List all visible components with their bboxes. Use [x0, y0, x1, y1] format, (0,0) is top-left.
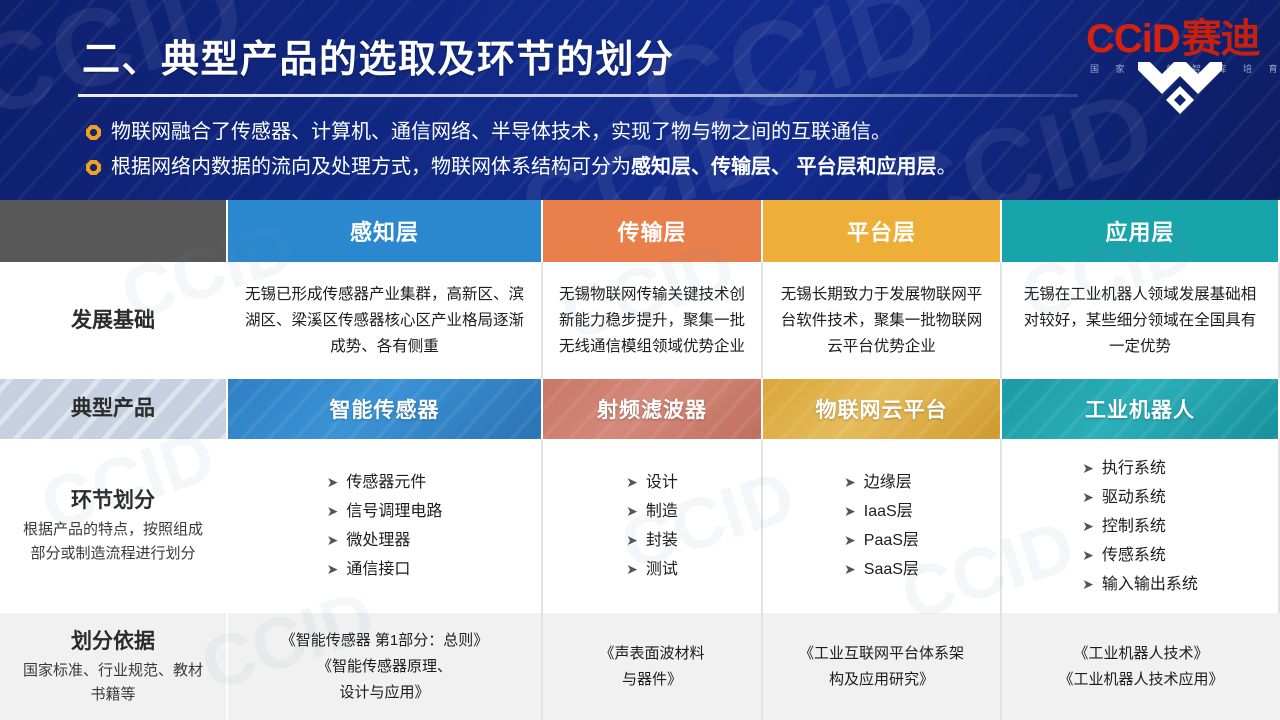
- table-row-label-segmentation: 环节划分 根据产品的特点，按照组成部分或制造流程进行划分: [0, 439, 228, 613]
- chevron-right-icon: ➤: [844, 503, 856, 519]
- cell-text: 物联网云平台: [816, 394, 948, 424]
- chevron-right-icon: ➤: [1082, 576, 1094, 592]
- table-header-blank: [0, 200, 228, 262]
- table-cell-segmentation-platform: ➤边缘层➤IaaS层➤PaaS层➤SaaS层: [763, 439, 1002, 613]
- table-cell-foundation-perception: 无锡已形成传感器产业集群，高新区、滨湖区、梁溪区传感器核心区产业格局逐渐成势、各…: [228, 262, 543, 379]
- chevron-right-icon: ➤: [844, 474, 856, 490]
- bullet-hexagon-icon: [86, 160, 101, 175]
- list-item: ➤驱动系统: [1082, 483, 1198, 512]
- table-cell-foundation-application: 无锡在工业机器人领域发展基础相对较好，某些细分领域在全国具有一定优势: [1002, 262, 1280, 379]
- list-item-label: IaaS层: [864, 503, 913, 520]
- list-item-label: SaaS层: [864, 561, 919, 578]
- table-cell-basis-platform: 《工业互联网平台体系架 构及应用研究》: [763, 613, 1002, 720]
- bullet-list: ➤执行系统➤驱动系统➤控制系统➤传感系统➤输入输出系统: [1082, 454, 1198, 599]
- list-item: ➤封装: [626, 526, 678, 555]
- row-label-title: 环节划分: [71, 486, 155, 516]
- bullet-list: ➤设计➤制造➤封装➤测试: [626, 468, 678, 584]
- bullet-list: ➤传感器元件➤信号调理电路➤微处理器➤通信接口: [327, 468, 443, 584]
- table-row-label-foundation: 发展基础: [0, 262, 228, 379]
- bullet-text-prefix: 根据网络内数据的流向及处理方式，物联网体系结构可分为: [111, 156, 631, 178]
- list-item: ➤信号调理电路: [327, 497, 443, 526]
- list-item: ➤执行系统: [1082, 454, 1198, 483]
- chevron-right-icon: ➤: [844, 561, 856, 577]
- title-divider: [78, 94, 1078, 97]
- cell-text: 工业机器人: [1085, 394, 1195, 424]
- cell-text: 《智能传感器 第1部分：总则》 《智能传感器原理、 设计与应用》: [265, 628, 505, 706]
- list-item-label: PaaS层: [864, 532, 919, 549]
- list-item: ➤传感器元件: [327, 468, 443, 497]
- list-item: ➤微处理器: [327, 526, 443, 555]
- list-item-label: 封装: [646, 532, 678, 549]
- list-item-label: 微处理器: [346, 532, 410, 549]
- table-cell-segmentation-perception: ➤传感器元件➤信号调理电路➤微处理器➤通信接口: [228, 439, 543, 613]
- chevron-right-icon: ➤: [1082, 518, 1094, 534]
- list-item-label: 输入输出系统: [1102, 576, 1198, 593]
- bullet-item: 物联网融合了传感器、计算机、通信网络、半导体技术，实现了物与物之间的互联通信。: [86, 118, 1166, 146]
- table-row-label-basis: 划分依据 国家标准、行业规范、教材书籍等: [0, 613, 228, 720]
- row-label-title: 典型产品: [71, 394, 155, 424]
- list-item: ➤PaaS层: [844, 526, 919, 555]
- chevron-right-icon: ➤: [626, 503, 638, 519]
- chevron-right-icon: ➤: [626, 532, 638, 548]
- list-item-label: 设计: [646, 474, 678, 491]
- list-item: ➤控制系统: [1082, 512, 1198, 541]
- chevron-right-icon: ➤: [1082, 547, 1094, 563]
- slide-root: CCID CCID CCID CCID 二、典型产品的选取及环节的划分 物联网融…: [0, 0, 1280, 720]
- list-item-label: 边缘层: [864, 474, 912, 491]
- chevron-right-icon: ➤: [1082, 489, 1094, 505]
- table-header-transport: 传输层: [543, 200, 763, 262]
- table-header-perception: 感知层: [228, 200, 543, 262]
- row-label-subtitle: 根据产品的特点，按照组成部分或制造流程进行划分: [0, 518, 226, 566]
- logo-d-text: D: [1152, 17, 1180, 61]
- chevron-right-icon: ➤: [1082, 460, 1094, 476]
- list-item: ➤输入输出系统: [1082, 570, 1198, 599]
- table-row-label-typical-product: 典型产品: [0, 379, 228, 439]
- cell-text: 无锡物联网传输关键技术创新能力稳步提升，聚集一批无线通信模组领域优势企业: [543, 282, 761, 360]
- list-item: ➤通信接口: [327, 555, 443, 584]
- table-cell-product-transport: 射频滤波器: [543, 379, 763, 439]
- list-item: ➤制造: [626, 497, 678, 526]
- list-item: ➤测试: [626, 555, 678, 584]
- bullet-list: 物联网融合了传感器、计算机、通信网络、半导体技术，实现了物与物之间的互联通信。 …: [86, 118, 1166, 188]
- bullet-item: 根据网络内数据的流向及处理方式，物联网体系结构可分为感知层、传输层、 平台层和应…: [86, 153, 1166, 181]
- logo-chevron-icon: [1132, 56, 1228, 120]
- list-item: ➤设计: [626, 468, 678, 497]
- comparison-table: 感知层 传输层 平台层 应用层 发展基础 无锡已形成传感器产业集群，高新区、滨湖…: [0, 200, 1280, 720]
- cell-text: 智能传感器: [330, 394, 440, 424]
- table-cell-basis-perception: 《智能传感器 第1部分：总则》 《智能传感器原理、 设计与应用》: [228, 613, 543, 720]
- list-item-label: 测试: [646, 561, 678, 578]
- list-item: ➤边缘层: [844, 468, 919, 497]
- chevron-right-icon: ➤: [626, 474, 638, 490]
- list-item-label: 传感系统: [1102, 547, 1166, 564]
- list-item: ➤SaaS层: [844, 555, 919, 584]
- cell-text: 射频滤波器: [597, 394, 707, 424]
- bullet-text-strong: 感知层、传输层、 平台层和应用层: [631, 156, 937, 178]
- slide-header: CCID CCID CCID CCID 二、典型产品的选取及环节的划分 物联网融…: [0, 0, 1280, 200]
- table-cell-product-application: 工业机器人: [1002, 379, 1280, 439]
- table-cell-basis-transport: 《声表面波材料 与器件》: [543, 613, 763, 720]
- table-header-platform: 平台层: [763, 200, 1002, 262]
- table-cell-foundation-transport: 无锡物联网传输关键技术创新能力稳步提升，聚集一批无线通信模组领域优势企业: [543, 262, 763, 379]
- table-cell-basis-application: 《工业机器人技术》 《工业机器人技术应用》: [1002, 613, 1280, 720]
- list-item: ➤传感系统: [1082, 541, 1198, 570]
- logo-cc-text: CC: [1086, 17, 1142, 61]
- row-label-subtitle: 国家标准、行业规范、教材书籍等: [0, 659, 226, 707]
- cell-text: 无锡在工业机器人领域发展基础相对较好，某些细分领域在全国具有一定优势: [1002, 282, 1278, 360]
- chevron-right-icon: ➤: [327, 532, 339, 548]
- logo-wordmark: CCiD赛迪: [1086, 18, 1260, 60]
- cell-text: 无锡长期致力于发展物联网平台软件技术，聚集一批物联网云平台优势企业: [763, 282, 1000, 360]
- table-header-application: 应用层: [1002, 200, 1280, 262]
- bullet-text: 根据网络内数据的流向及处理方式，物联网体系结构可分为感知层、传输层、 平台层和应…: [111, 153, 957, 181]
- ccid-logo: CCiD赛迪 国 家 高 端 智 库 培 育 单 位: [1076, 12, 1266, 120]
- table-cell-segmentation-application: ➤执行系统➤驱动系统➤控制系统➤传感系统➤输入输出系统: [1002, 439, 1280, 613]
- bullet-text-suffix: 。: [937, 156, 957, 178]
- bullet-text: 物联网融合了传感器、计算机、通信网络、半导体技术，实现了物与物之间的互联通信。: [111, 118, 891, 146]
- list-item-label: 制造: [646, 503, 678, 520]
- list-item-label: 驱动系统: [1102, 489, 1166, 506]
- cell-text: 无锡已形成传感器产业集群，高新区、滨湖区、梁溪区传感器核心区产业格局逐渐成势、各…: [228, 282, 541, 360]
- list-item-label: 控制系统: [1102, 518, 1166, 535]
- page-title: 二、典型产品的选取及环节的划分: [82, 28, 675, 83]
- list-item: ➤IaaS层: [844, 497, 919, 526]
- chevron-right-icon: ➤: [327, 561, 339, 577]
- list-item-label: 通信接口: [346, 561, 410, 578]
- table-cell-segmentation-transport: ➤设计➤制造➤封装➤测试: [543, 439, 763, 613]
- logo-i-text: i: [1142, 17, 1152, 61]
- chevron-right-icon: ➤: [626, 561, 638, 577]
- chevron-right-icon: ➤: [327, 474, 339, 490]
- table-cell-product-platform: 物联网云平台: [763, 379, 1002, 439]
- chevron-right-icon: ➤: [327, 503, 339, 519]
- cell-text: 《声表面波材料 与器件》: [583, 641, 720, 693]
- list-item-label: 信号调理电路: [346, 503, 442, 520]
- list-item-label: 执行系统: [1102, 460, 1166, 477]
- cell-text: 《工业互联网平台体系架 构及应用研究》: [783, 641, 980, 693]
- list-item-label: 传感器元件: [346, 474, 426, 491]
- row-label-title: 发展基础: [71, 306, 155, 336]
- bullet-list: ➤边缘层➤IaaS层➤PaaS层➤SaaS层: [844, 468, 919, 584]
- table-cell-foundation-platform: 无锡长期致力于发展物联网平台软件技术，聚集一批物联网云平台优势企业: [763, 262, 1002, 379]
- row-label-title: 划分依据: [71, 627, 155, 657]
- table-cell-product-perception: 智能传感器: [228, 379, 543, 439]
- chevron-right-icon: ➤: [844, 532, 856, 548]
- bullet-hexagon-icon: [86, 125, 101, 140]
- logo-chinese-text: 赛迪: [1182, 17, 1260, 61]
- cell-text: 《工业机器人技术》 《工业机器人技术应用》: [1042, 641, 1239, 693]
